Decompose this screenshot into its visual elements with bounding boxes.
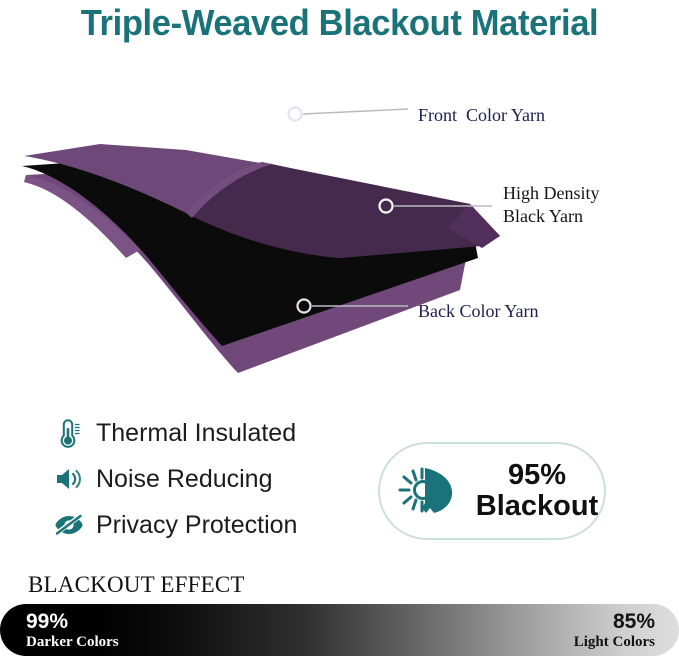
bar-right-group: 85% Light Colors: [574, 610, 655, 651]
thermometer-icon: [48, 414, 90, 452]
bar-left-label: Darker Colors: [26, 634, 119, 651]
blackout-effect-gradient-bar: 99% Darker Colors 85% Light Colors: [0, 604, 679, 656]
badge-percent: 95%: [470, 460, 604, 491]
fabric-layers-diagram: [0, 78, 679, 378]
bar-left-group: 99% Darker Colors: [26, 610, 119, 651]
feature-item-privacy-protection: Privacy Protection: [48, 502, 368, 548]
feature-label-privacy-protection: Privacy Protection: [96, 511, 297, 540]
blackout-effect-heading: BLACKOUT EFFECT: [28, 572, 245, 598]
bar-left-percent: 99%: [26, 610, 119, 634]
feature-item-thermal-insulated: Thermal Insulated: [48, 410, 368, 456]
speaker-icon: [48, 460, 90, 498]
eye-slash-icon: [48, 506, 90, 544]
feature-label-thermal-insulated: Thermal Insulated: [96, 419, 296, 448]
sun-blocked-icon: [392, 460, 466, 522]
bar-right-label: Light Colors: [574, 634, 655, 651]
feature-list: Thermal Insulated Noise Reducing: [48, 410, 368, 548]
page-title: Triple-Weaved Blackout Material: [14, 2, 666, 44]
callout-label-back-color-yarn: Back Color Yarn: [418, 300, 539, 323]
callout-label-high-density-black-yarn: High Density Black Yarn: [503, 182, 600, 227]
feature-item-noise-reducing: Noise Reducing: [48, 456, 368, 502]
feature-label-noise-reducing: Noise Reducing: [96, 465, 273, 494]
badge-word: Blackout: [470, 491, 604, 522]
callout-line-front: [303, 109, 408, 114]
badge-text-group: 95% Blackout: [470, 460, 604, 523]
blackout-percentage-badge: 95% Blackout: [378, 442, 606, 540]
callout-label-front-color-yarn: Front Color Yarn: [418, 104, 545, 127]
callout-dot-front: [289, 108, 302, 121]
bar-right-percent: 85%: [574, 610, 655, 634]
